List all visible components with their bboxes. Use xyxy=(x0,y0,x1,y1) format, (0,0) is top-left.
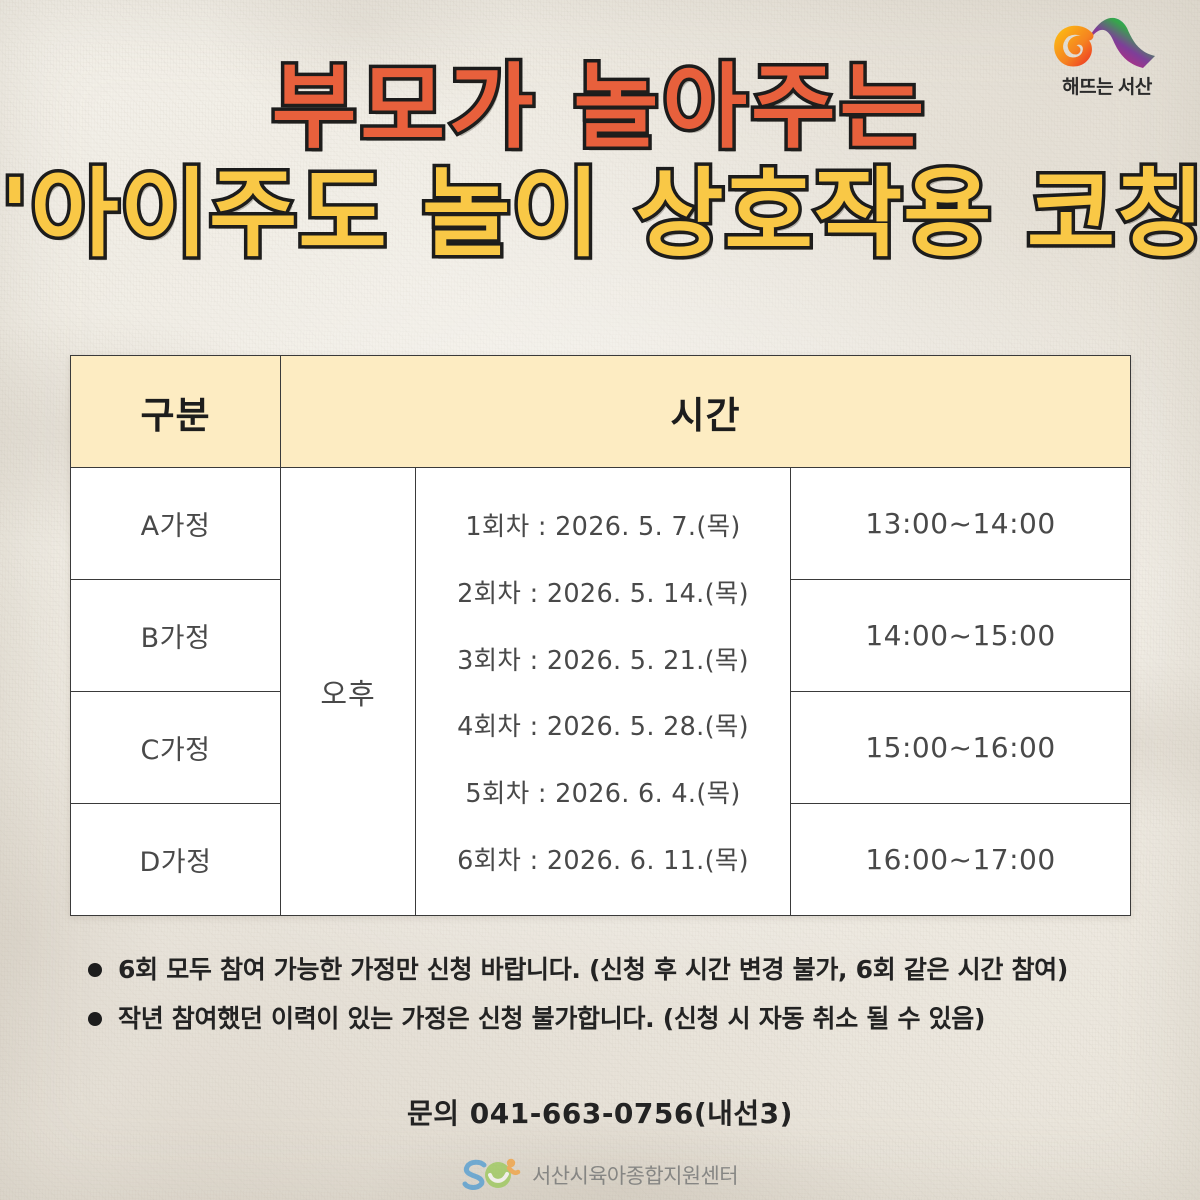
schedule-table: 구분 시간 A가정 오후 1회차 : 2026. 5. 7.(목) 2회차 : … xyxy=(70,355,1131,916)
poster-title: 부모가 놀아주는 '아이주도 놀이 상호작용 코칭' xyxy=(0,62,1200,262)
header-category: 구분 xyxy=(71,356,281,468)
brand-footer: 서산시육아종합지원센터 xyxy=(0,1158,1200,1192)
brand-footer-name: 서산시육아종합지원센터 xyxy=(532,1160,738,1190)
sessions-cell: 1회차 : 2026. 5. 7.(목) 2회차 : 2026. 5. 14.(… xyxy=(416,468,791,916)
time-slot-b: 14:00~15:00 xyxy=(791,580,1131,692)
note-item: 작년 참여했던 이력이 있는 가정은 신청 불가합니다. (신청 시 자동 취소… xyxy=(88,1001,1148,1036)
list-item: 3회차 : 2026. 5. 21.(목) xyxy=(420,633,786,684)
time-slot-c: 15:00~16:00 xyxy=(791,692,1131,804)
table-header-row: 구분 시간 xyxy=(71,356,1131,468)
bullet-icon xyxy=(88,1012,102,1026)
note-item: 6회 모두 참여 가능한 가정만 신청 바랍니다. (신청 후 시간 변경 불가… xyxy=(88,952,1148,987)
table-row: A가정 오후 1회차 : 2026. 5. 7.(목) 2회차 : 2026. … xyxy=(71,468,1131,580)
note-text: 6회 모두 참여 가능한 가정만 신청 바랍니다. (신청 후 시간 변경 불가… xyxy=(118,952,1068,987)
family-label-b: B가정 xyxy=(71,580,281,692)
schedule-table-wrap: 구분 시간 A가정 오후 1회차 : 2026. 5. 7.(목) 2회차 : … xyxy=(70,355,1130,916)
time-slot-a: 13:00~14:00 xyxy=(791,468,1131,580)
session-list: 1회차 : 2026. 5. 7.(목) 2회차 : 2026. 5. 14.(… xyxy=(420,492,786,892)
time-slot-d: 16:00~17:00 xyxy=(791,804,1131,916)
brand-top-name: 해뜨는 서산 xyxy=(1032,72,1182,99)
title-line-2: '아이주도 놀이 상호작용 코칭' xyxy=(0,166,1200,262)
list-item: 6회차 : 2026. 6. 11.(목) xyxy=(420,833,786,884)
bullet-icon xyxy=(88,963,102,977)
note-text: 작년 참여했던 이력이 있는 가정은 신청 불가합니다. (신청 시 자동 취소… xyxy=(118,1001,985,1036)
period-label: 오후 xyxy=(281,468,416,916)
family-label-c: C가정 xyxy=(71,692,281,804)
family-label-d: D가정 xyxy=(71,804,281,916)
contact-line: 문의 041-663-0756(내선3) xyxy=(0,1092,1200,1132)
list-item: 5회차 : 2026. 6. 4.(목) xyxy=(420,766,786,817)
brand-top: 해뜨는 서산 xyxy=(1032,16,1182,99)
header-time: 시간 xyxy=(281,356,1131,468)
seosan-sunrise-logo-mark xyxy=(1047,16,1167,70)
list-item: 4회차 : 2026. 5. 28.(목) xyxy=(420,699,786,750)
list-item: 1회차 : 2026. 5. 7.(목) xyxy=(420,499,786,550)
list-item: 2회차 : 2026. 5. 14.(목) xyxy=(420,566,786,617)
title-line-1: 부모가 놀아주는 xyxy=(0,62,1200,154)
seosan-childcare-center-logo-mark xyxy=(462,1158,524,1192)
notes-list: 6회 모두 참여 가능한 가정만 신청 바랍니다. (신청 후 시간 변경 불가… xyxy=(88,952,1148,1050)
family-label-a: A가정 xyxy=(71,468,281,580)
poster-canvas: 해뜨는 서산 부모가 놀아주는 '아이주도 놀이 상호작용 코칭' 구분 시간 xyxy=(0,0,1200,1200)
